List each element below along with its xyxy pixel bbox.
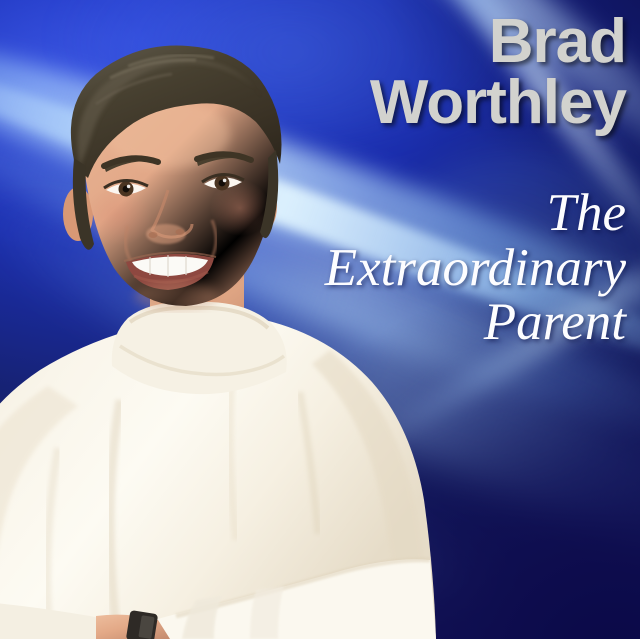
album-cover: Brad Worthley The Extraordinary Parent bbox=[0, 0, 640, 639]
subtitle-line-3: Parent bbox=[325, 295, 626, 350]
title-line-2: Worthley bbox=[370, 73, 626, 134]
album-subtitle: The Extraordinary Parent bbox=[325, 186, 626, 350]
title-line-1: Brad bbox=[370, 12, 626, 73]
subtitle-line-1: The bbox=[325, 186, 626, 241]
turtleneck-collar bbox=[112, 302, 287, 394]
artist-name: Brad Worthley bbox=[370, 12, 626, 134]
subtitle-line-2: Extraordinary bbox=[325, 241, 626, 296]
head bbox=[63, 46, 282, 310]
